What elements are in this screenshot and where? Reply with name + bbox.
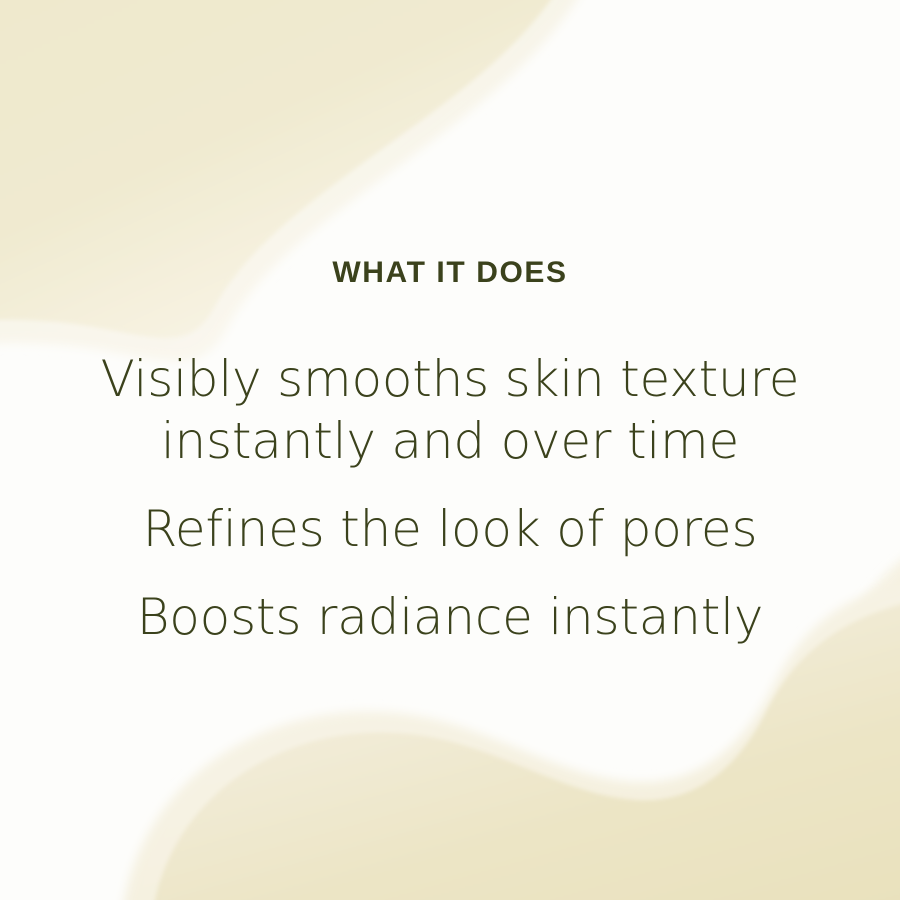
list-item: Boosts radiance instantly — [0, 586, 900, 648]
benefit-list: Visibly smooths skin texture instantly a… — [0, 348, 900, 648]
benefit-line: Boosts radiance instantly — [0, 586, 900, 648]
list-item: Refines the look of pores — [0, 498, 900, 560]
product-benefits-card: WHAT IT DOES Visibly smooths skin textur… — [0, 0, 900, 900]
benefit-line: Refines the look of pores — [0, 498, 900, 560]
page-title: WHAT IT DOES — [0, 258, 900, 288]
benefit-line: instantly and over time — [0, 410, 900, 472]
list-item: Visibly smooths skin texture instantly a… — [0, 348, 900, 472]
card-content: WHAT IT DOES Visibly smooths skin textur… — [0, 0, 900, 900]
benefit-line: Visibly smooths skin texture — [0, 348, 900, 410]
